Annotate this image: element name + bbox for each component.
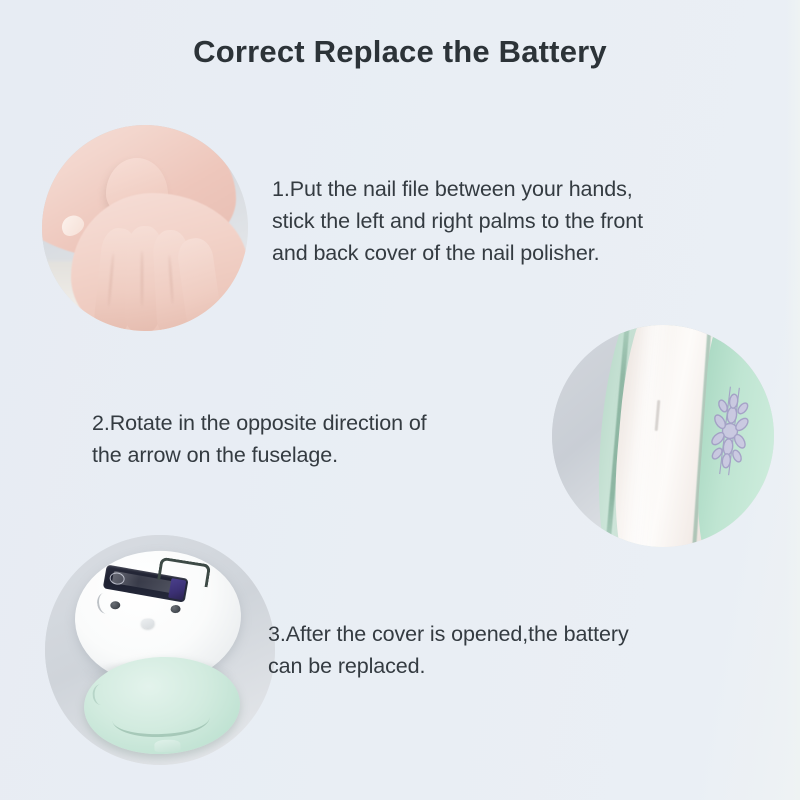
finger-crease xyxy=(141,251,143,307)
step-2-photo-device-closeup xyxy=(552,325,774,547)
step-2-text: 2.Rotate in the opposite direction of th… xyxy=(92,407,562,471)
cover-nub xyxy=(154,739,181,751)
screw xyxy=(170,605,180,614)
cover-groove xyxy=(112,700,210,739)
step-3-photo-opened-battery-compartment xyxy=(45,535,275,765)
body-vent xyxy=(96,591,116,615)
step-1-photo-hands-holding-device xyxy=(42,125,248,331)
body-tab xyxy=(141,618,155,629)
step-1-text: 1.Put the nail file between your hands, … xyxy=(272,173,772,269)
instruction-page: Correct Replace the Battery 1.Put the na… xyxy=(0,0,800,800)
cover-edge xyxy=(93,684,111,706)
photo-clip xyxy=(552,325,774,547)
page-title: Correct Replace the Battery xyxy=(0,34,800,70)
step-3-text: 3.After the cover is opened,the battery … xyxy=(268,618,768,682)
